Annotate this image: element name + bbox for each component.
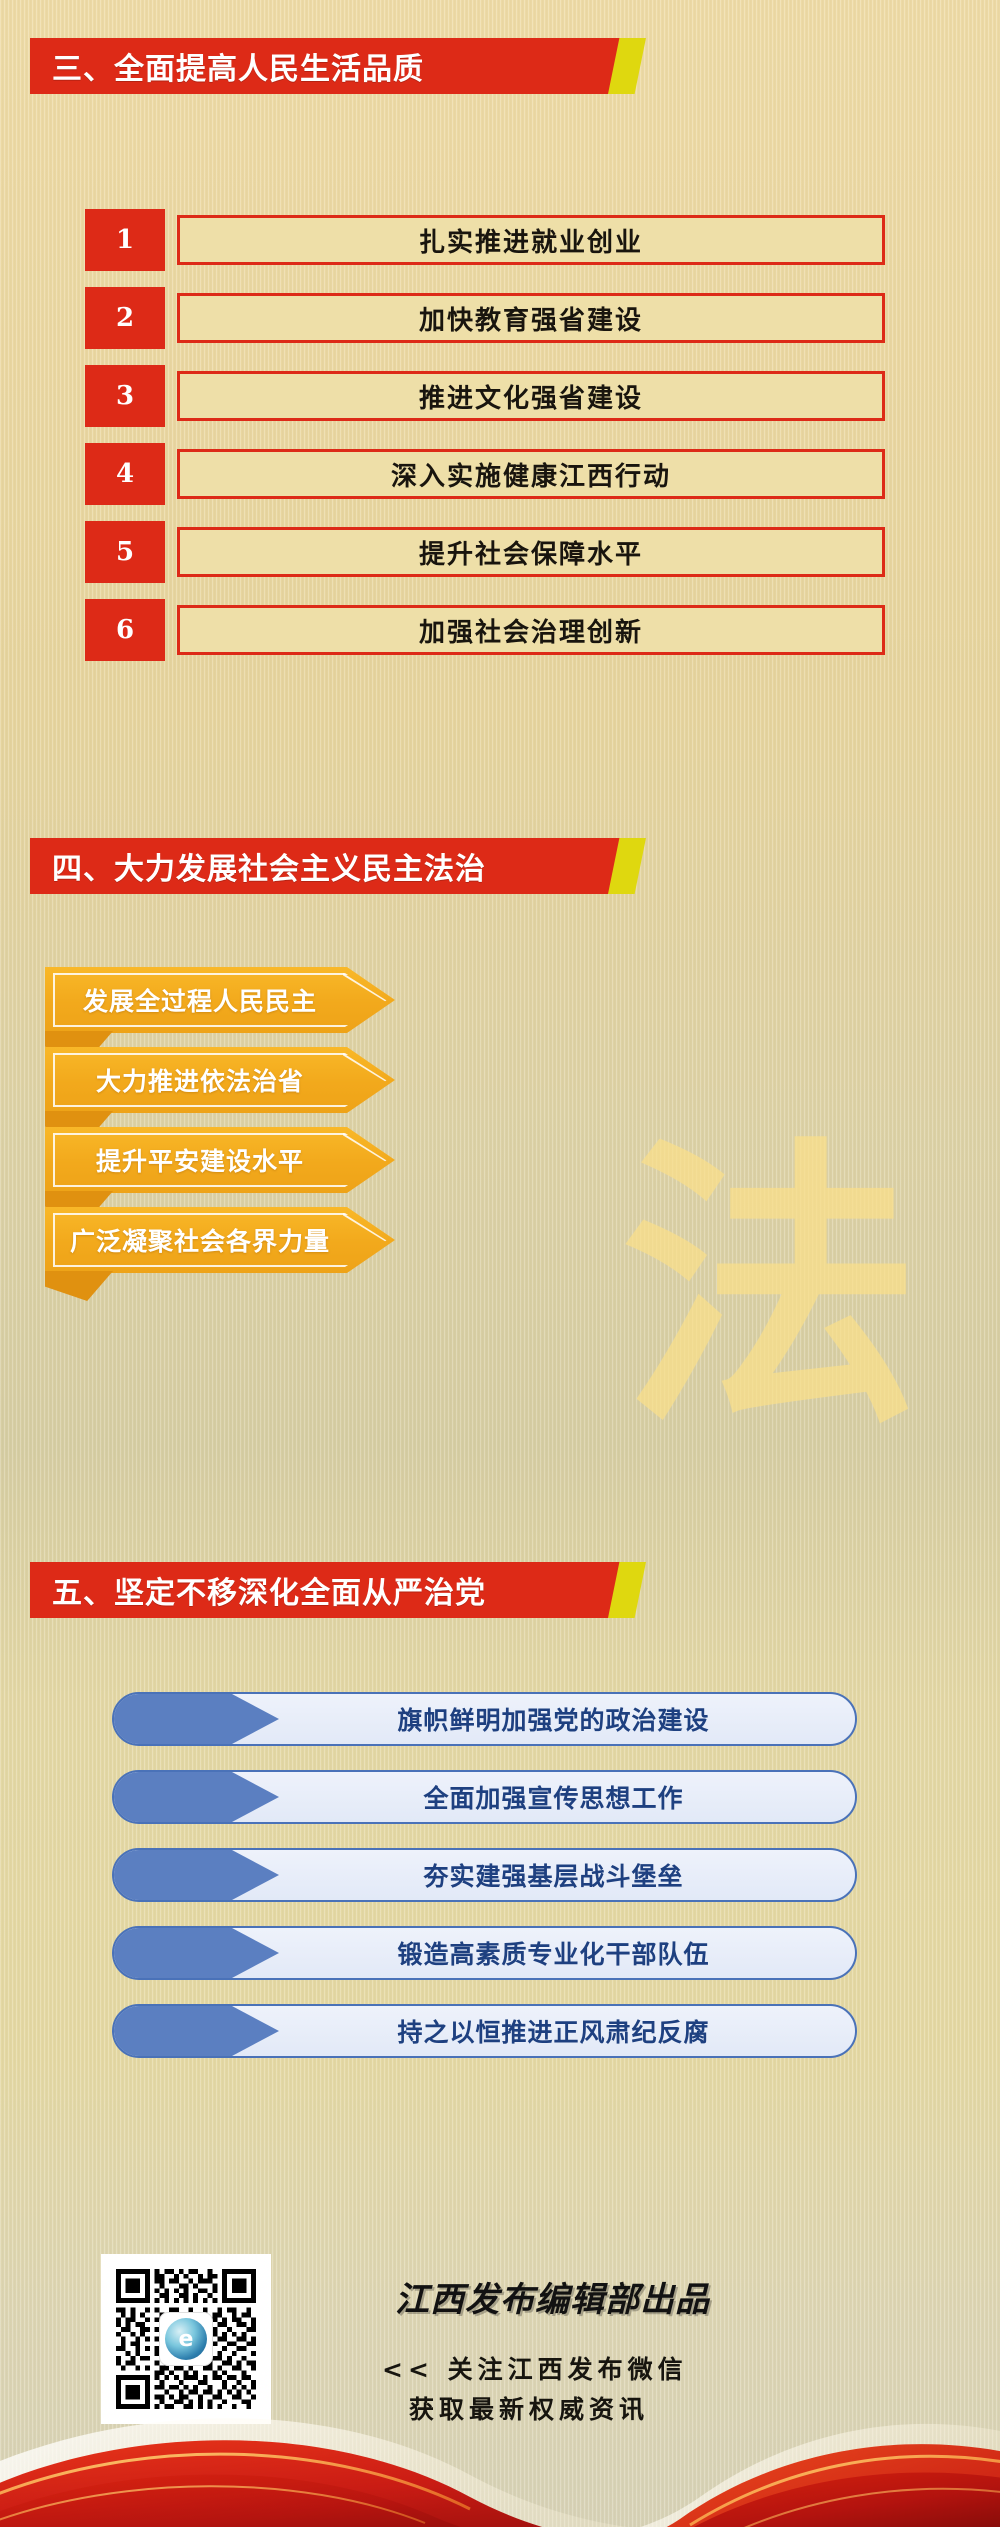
numbered-row: 6 加强社会治理创新 xyxy=(85,599,885,661)
pill-arrow-icon xyxy=(114,2006,279,2056)
watermark-fa-character: 法 xyxy=(610,1140,930,1470)
pill-label: 锻造高素质专业化干部队伍 xyxy=(262,1926,845,1980)
ribbon-item: 大力推进依法治省 xyxy=(45,1047,395,1113)
ribbon-item: 广泛凝聚社会各界力量 xyxy=(45,1207,395,1273)
pill-item: 持之以恒推进正风肃纪反腐 xyxy=(112,2004,857,2058)
row-number: 1 xyxy=(85,209,165,271)
section-five-title: 五、坚定不移深化全面从严治党 xyxy=(52,1562,486,1618)
pill-item: 旗帜鲜明加强党的政治建设 xyxy=(112,1692,857,1746)
row-label: 深入实施健康江西行动 xyxy=(391,456,671,493)
row-label: 扎实推进就业创业 xyxy=(419,222,643,259)
ribbon-fold-tail xyxy=(45,1271,113,1301)
row-number: 6 xyxy=(85,599,165,661)
numbered-row: 4 深入实施健康江西行动 xyxy=(85,443,885,505)
section-banner-five: 五、坚定不移深化全面从严治党 xyxy=(30,1562,600,1618)
wave-svg xyxy=(0,2347,1000,2527)
ribbon-item: 发展全过程人民民主 xyxy=(45,967,395,1033)
pill-item: 锻造高素质专业化干部队伍 xyxy=(112,1926,857,1980)
infographic-page: 三、全面提高人民生活品质 1 扎实推进就业创业 2 加快教育强省建设 3 推进文… xyxy=(0,0,1000,2527)
row-text-box: 扎实推进就业创业 xyxy=(177,215,885,265)
section-banner-three: 三、全面提高人民生活品质 xyxy=(30,38,600,94)
numbered-row: 3 推进文化强省建设 xyxy=(85,365,885,427)
section-four-title: 四、大力发展社会主义民主法治 xyxy=(52,838,486,894)
pill-arrow-icon xyxy=(114,1928,279,1978)
pill-arrow-icon xyxy=(114,1772,279,1822)
pill-item: 全面加强宣传思想工作 xyxy=(112,1770,857,1824)
pill-label: 全面加强宣传思想工作 xyxy=(262,1770,845,1824)
row-text-box: 加强社会治理创新 xyxy=(177,605,885,655)
row-text-box: 推进文化强省建设 xyxy=(177,371,885,421)
ribbon-item: 提升平安建设水平 xyxy=(45,1127,395,1193)
row-label: 提升社会保障水平 xyxy=(419,534,643,571)
numbered-row: 5 提升社会保障水平 xyxy=(85,521,885,583)
row-number: 5 xyxy=(85,521,165,583)
bottom-red-ribbon-decoration xyxy=(0,2347,1000,2527)
pill-label: 持之以恒推进正风肃纪反腐 xyxy=(262,2004,845,2058)
publisher-brand: 江西发布编辑部出品 xyxy=(395,2272,865,2321)
section-three-title: 三、全面提高人民生活品质 xyxy=(52,38,424,94)
row-label: 推进文化强省建设 xyxy=(419,378,643,415)
row-number: 2 xyxy=(85,287,165,349)
ribbon-label: 大力推进依法治省 xyxy=(45,1047,355,1113)
row-label: 加快教育强省建设 xyxy=(419,300,643,337)
row-text-box: 加快教育强省建设 xyxy=(177,293,885,343)
row-number: 4 xyxy=(85,443,165,505)
row-label: 加强社会治理创新 xyxy=(419,612,643,649)
numbered-row: 1 扎实推进就业创业 xyxy=(85,209,885,271)
pill-label: 夯实建强基层战斗堡垒 xyxy=(262,1848,845,1902)
pill-label: 旗帜鲜明加强党的政治建设 xyxy=(262,1692,845,1746)
pill-item: 夯实建强基层战斗堡垒 xyxy=(112,1848,857,1902)
section-banner-four: 四、大力发展社会主义民主法治 xyxy=(30,838,600,894)
row-text-box: 深入实施健康江西行动 xyxy=(177,449,885,499)
ribbon-label: 广泛凝聚社会各界力量 xyxy=(45,1207,355,1273)
ribbon-label: 发展全过程人民民主 xyxy=(45,967,355,1033)
row-text-box: 提升社会保障水平 xyxy=(177,527,885,577)
ribbon-label: 提升平安建设水平 xyxy=(45,1127,355,1193)
row-number: 3 xyxy=(85,365,165,427)
numbered-row: 2 加快教育强省建设 xyxy=(85,287,885,349)
pill-arrow-icon xyxy=(114,1694,279,1744)
pill-arrow-icon xyxy=(114,1850,279,1900)
